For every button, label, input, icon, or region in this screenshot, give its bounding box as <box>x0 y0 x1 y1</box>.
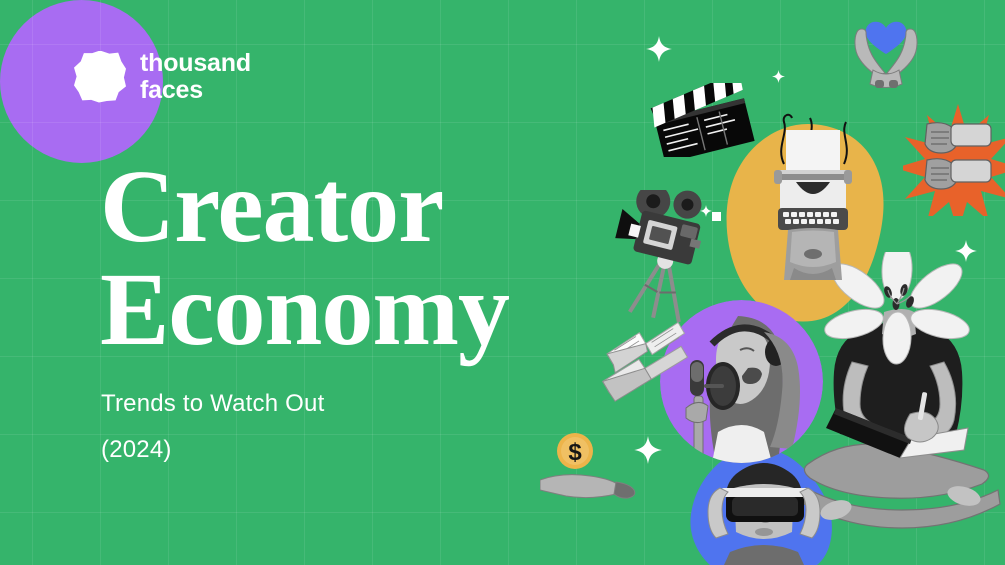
sparkle-icon <box>955 240 977 262</box>
brand-logo[interactable]: thousand faces <box>74 50 251 103</box>
vintage-film-camera-icon <box>612 190 730 322</box>
page-subtitle: Trends to Watch Out (2024) <box>101 381 521 473</box>
vr-headset-person-icon <box>690 448 838 565</box>
page-title-line1: Creator <box>100 156 620 259</box>
page-title-line2: Economy <box>100 259 620 362</box>
page-subtitle-line1: Trends to Watch Out <box>101 381 521 427</box>
page-subtitle-line2: (2024) <box>101 427 521 473</box>
sparkle-icon <box>634 436 662 464</box>
clapperboard-icon <box>648 83 756 157</box>
open-books-icon <box>592 310 700 418</box>
square-accent-icon <box>712 212 721 221</box>
brand-name-line1: thousand <box>140 50 251 77</box>
scalloped-octagon-mark-icon <box>74 51 126 103</box>
hands-holding-heart-icon <box>843 18 929 90</box>
typewriter-head-woman-icon <box>758 108 868 280</box>
svg-text:$: $ <box>568 439 582 466</box>
sparkle-icon <box>772 70 785 83</box>
page-title: Creator Economy <box>100 156 620 362</box>
fist-bump-icon <box>915 118 1005 196</box>
sparkle-icon <box>646 36 672 62</box>
sparkle-icon <box>700 205 712 217</box>
slide-canvas: thousand faces Creator Economy Trends to… <box>0 0 1005 565</box>
brand-name-line2: faces <box>140 77 251 104</box>
coin-on-palm-icon: $ <box>540 432 640 507</box>
brand-name: thousand faces <box>140 50 251 103</box>
